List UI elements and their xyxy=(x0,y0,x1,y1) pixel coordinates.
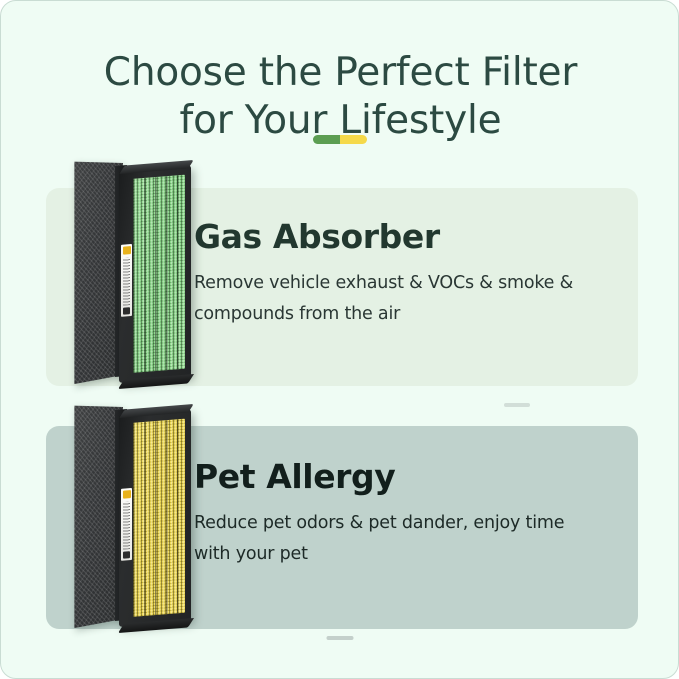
product-image-pet-allergy-filter xyxy=(59,397,191,629)
qr-code-icon xyxy=(123,551,130,559)
product-image-gas-absorber-filter xyxy=(59,153,191,385)
divider-segment-yellow xyxy=(340,135,367,144)
feature-description-gas-absorber: Remove vehicle exhaust & VOCs & smoke & … xyxy=(194,268,610,330)
qr-code-icon xyxy=(123,307,130,315)
feature-description-pet-allergy: Reduce pet odors & pet dander, enjoy tim… xyxy=(194,508,610,570)
feature-title-pet-allergy: Pet Allergy xyxy=(194,458,610,496)
divider-marker-middle xyxy=(504,403,530,407)
product-spec-label xyxy=(121,244,132,317)
feature-title-gas-absorber: Gas Absorber xyxy=(194,218,610,256)
feature-card-pet-allergy-text: Pet Allergy Reduce pet odors & pet dande… xyxy=(194,458,610,570)
brand-logo-icon xyxy=(123,490,131,499)
hepa-cartridge xyxy=(119,409,191,627)
divider-marker-bottom xyxy=(326,636,353,640)
feature-card-gas-absorber-text: Gas Absorber Remove vehicle exhaust & VO… xyxy=(194,218,610,330)
pleated-filter-media xyxy=(133,419,185,617)
spec-label-text-lines xyxy=(123,501,130,550)
feature-description-gas-absorber-line-1: Remove vehicle exhaust & VOCs & smoke & xyxy=(194,268,610,299)
divider-segment-green xyxy=(313,135,340,144)
feature-description-pet-allergy-line-1: Reduce pet odors & pet dander, enjoy tim… xyxy=(194,508,610,539)
infographic-poster: Choose the Perfect Filter for Your Lifes… xyxy=(0,0,679,679)
spec-label-text-lines xyxy=(123,257,130,306)
product-spec-label xyxy=(121,488,132,561)
page-title: Choose the Perfect Filter for Your Lifes… xyxy=(1,49,679,145)
hepa-cartridge xyxy=(119,165,191,383)
feature-description-pet-allergy-line-2: with your pet xyxy=(194,539,610,570)
title-divider xyxy=(313,135,367,144)
brand-logo-icon xyxy=(123,246,131,255)
feature-description-gas-absorber-line-2: compounds from the air xyxy=(194,299,610,330)
page-title-line-1: Choose the Perfect Filter xyxy=(1,49,679,97)
pleated-filter-media xyxy=(133,175,185,373)
